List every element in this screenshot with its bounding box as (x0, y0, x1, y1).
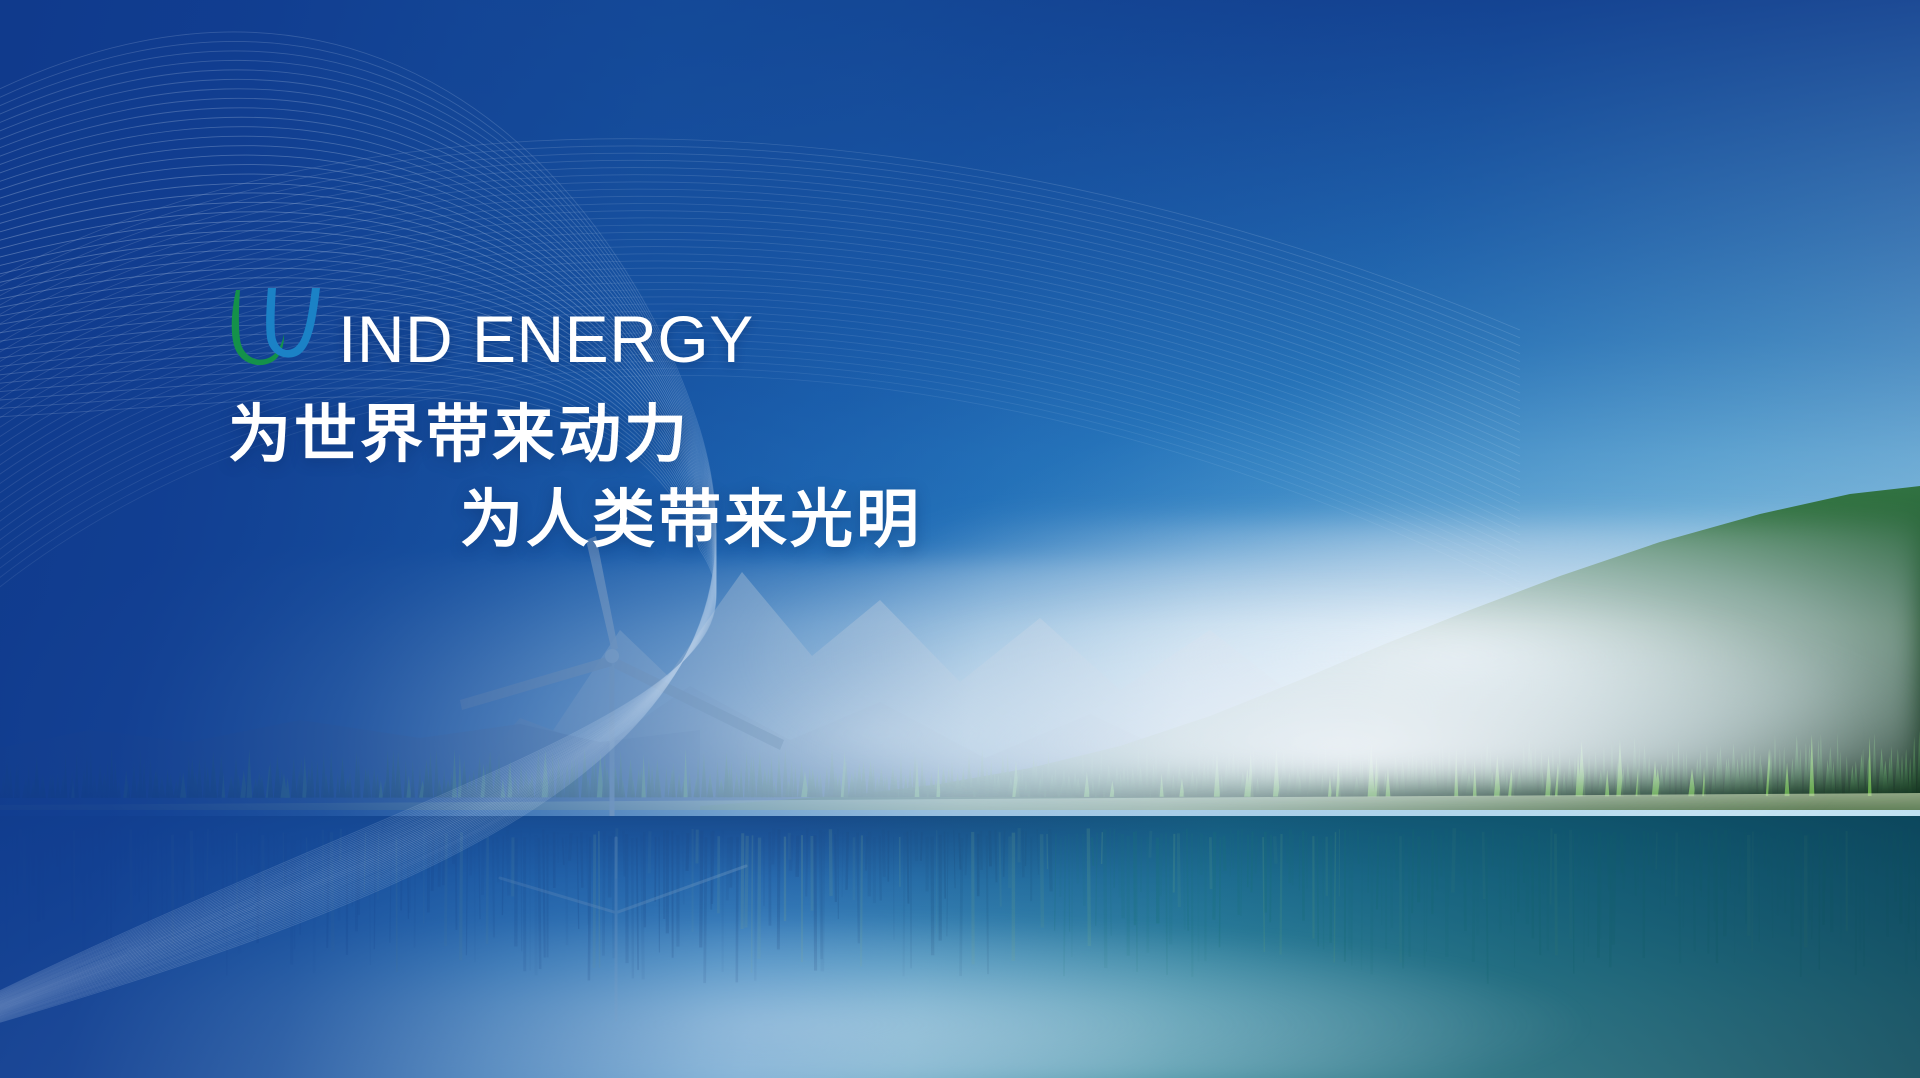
hero-banner: IND ENERGY 为世界带来动力 为人类带来光明 (0, 0, 1920, 1078)
logo-blue-swoosh (266, 288, 320, 358)
brand-lockup: IND ENERGY (228, 286, 1328, 370)
slogan-line-2: 为人类带来光明 (460, 489, 1328, 552)
wind-double-swoosh-logo-icon (228, 286, 336, 370)
brand-wordmark: IND ENERGY (338, 309, 754, 370)
slogan-line-1: 为世界带来动力 (228, 404, 1328, 467)
logo-green-swoosh (232, 290, 284, 365)
hero-text-block: IND ENERGY 为世界带来动力 为人类带来光明 (228, 286, 1328, 552)
